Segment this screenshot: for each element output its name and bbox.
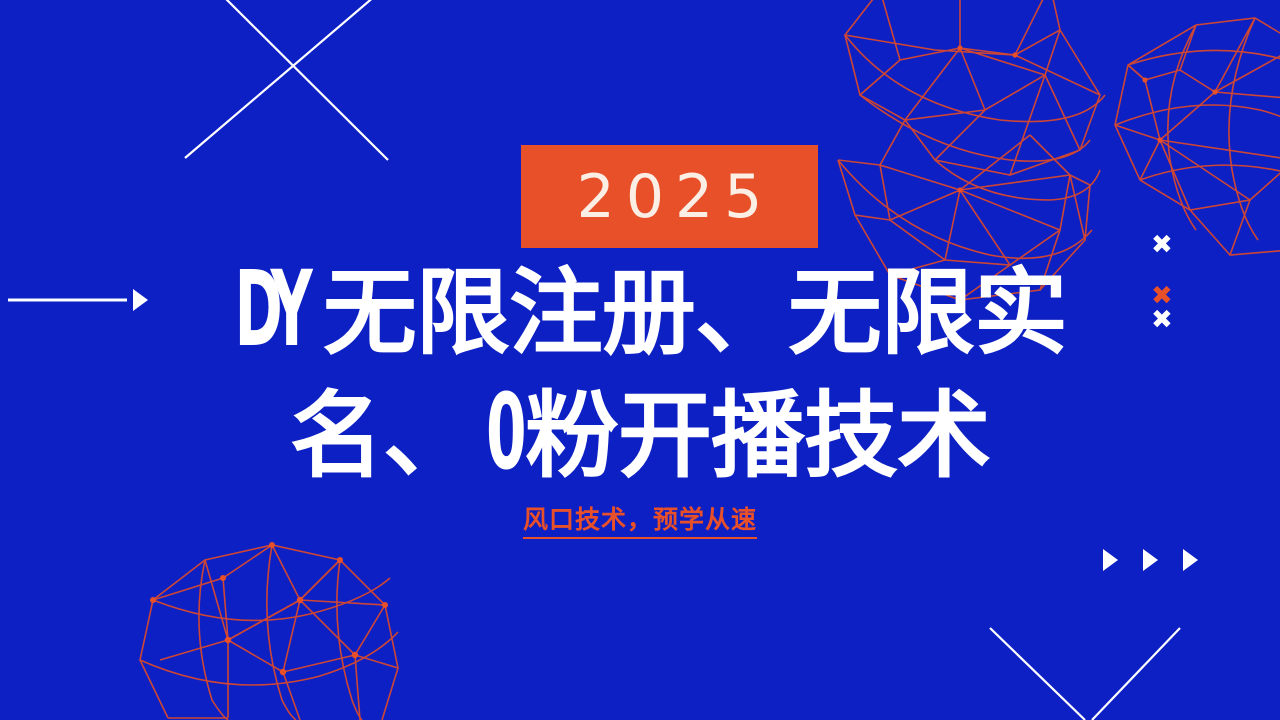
subtitle-label: 风口技术，预学从速 (523, 505, 757, 539)
big-x-stroke-a (185, 0, 382, 158)
year-badge: 2025 (521, 145, 818, 248)
x-mark-white-top-icon: ✖ (1151, 232, 1173, 258)
page-title: DY无限注册、无限实 名、0粉开播技术 (0, 250, 1280, 496)
year-badge-label: 2025 (566, 167, 774, 227)
wireframe-sphere-bottom-left (140, 545, 398, 720)
bottom-right-triangle-group (1103, 549, 1198, 571)
headline-line-2-cjk-b: 粉开播技术 (525, 382, 990, 491)
headline-line-2-cjk-a: 名、 (290, 382, 476, 491)
subtitle: 风口技术，预学从速 (0, 500, 1280, 536)
poster-canvas: 2025 DY无限注册、无限实 名、0粉开播技术 风口技术，预学从速 ✖ ✖ ✖ (0, 0, 1280, 720)
triangle-2 (1143, 549, 1158, 571)
triangle-3 (1183, 549, 1198, 571)
headline-line-1-cjk: 无限注册、无限实 (323, 259, 1067, 368)
headline-line-1-latin: DY (235, 250, 306, 368)
headline-line-2-latin: 0 (486, 373, 519, 491)
wireframe-sphere-right (1115, 18, 1280, 255)
chevron-stroke-b (1092, 628, 1180, 720)
chevron-stroke-a (990, 628, 1085, 720)
triangle-1 (1103, 549, 1118, 571)
headline-line-1: DY无限注册、无限实 (0, 250, 1280, 373)
headline-line-2: 名、0粉开播技术 (0, 373, 1280, 496)
big-x-stroke-b (215, 0, 388, 160)
wireframe-blob-upper (845, 0, 1105, 200)
x-mark-white-bottom-icon: ✖ (1151, 307, 1173, 333)
